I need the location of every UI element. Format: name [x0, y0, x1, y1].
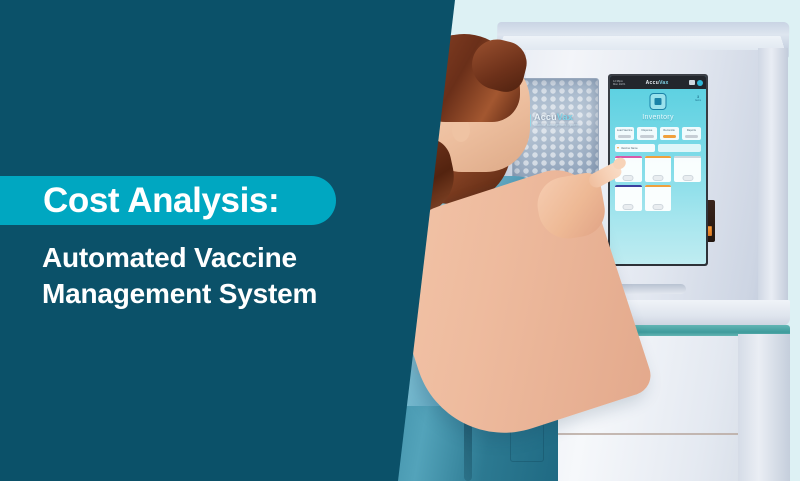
- screen-status-bar: 12:38pm Mon 10/21 AccuVax: [610, 76, 706, 89]
- subtitle-line-1: Automated Vaccine: [42, 240, 402, 276]
- qty-pill: [623, 175, 634, 181]
- poster-canvas: AccuVax Vaccine Management System 12:38p…: [0, 0, 800, 481]
- headline-subtitle: Automated Vaccine Management System: [42, 240, 402, 312]
- battery-icon: [689, 80, 695, 85]
- screen-item-count-badge: 3 Items: [695, 95, 701, 103]
- inventory-card[interactable]: [674, 156, 701, 182]
- qty-pill: [652, 204, 663, 210]
- inventory-card[interactable]: [645, 156, 672, 182]
- screen-filter-row: Vaccine Name: [615, 144, 701, 152]
- chevron-down-icon: [617, 147, 619, 149]
- tab-reports[interactable]: Reports: [682, 127, 701, 140]
- screen-status-icons: [689, 80, 703, 86]
- screen-clock: 12:38pm Mon 10/21: [613, 79, 625, 86]
- vaccine-name-dropdown[interactable]: Vaccine Name: [615, 144, 655, 152]
- tab-reconcile[interactable]: Reconcile: [660, 127, 679, 140]
- inventory-card[interactable]: [615, 185, 642, 211]
- qty-pill: [623, 204, 634, 210]
- qty-pill: [682, 175, 693, 181]
- kiosk-touchscreen-bezel: 12:38pm Mon 10/21 AccuVax 3 Items: [608, 74, 708, 266]
- user-avatar-icon[interactable]: [697, 80, 703, 86]
- screen-tab-bar: Load Vaccine Dispense Reconcile Reports: [615, 127, 701, 140]
- headline-pill: Cost Analysis:: [0, 176, 336, 225]
- cabinet-side-panel: [738, 334, 790, 481]
- search-input[interactable]: [658, 144, 701, 152]
- screen-module-icon: [650, 93, 667, 110]
- kiosk-right-panel: [758, 48, 788, 316]
- inventory-card-empty: [674, 185, 701, 211]
- subtitle-line-2: Management System: [42, 276, 402, 312]
- page-title: Cost Analysis:: [0, 183, 279, 218]
- tab-dispense[interactable]: Dispense: [637, 127, 656, 140]
- screen-brand: AccuVax: [646, 80, 669, 86]
- kiosk-touchscreen[interactable]: 12:38pm Mon 10/21 AccuVax 3 Items: [610, 76, 706, 264]
- inventory-card[interactable]: [645, 185, 672, 211]
- inventory-card-grid: [615, 156, 701, 211]
- screen-date: Mon 10/21: [613, 84, 625, 87]
- screen-page-title: Inventory: [610, 114, 706, 121]
- tab-load-vaccine[interactable]: Load Vaccine: [615, 127, 634, 140]
- qty-pill: [652, 175, 663, 181]
